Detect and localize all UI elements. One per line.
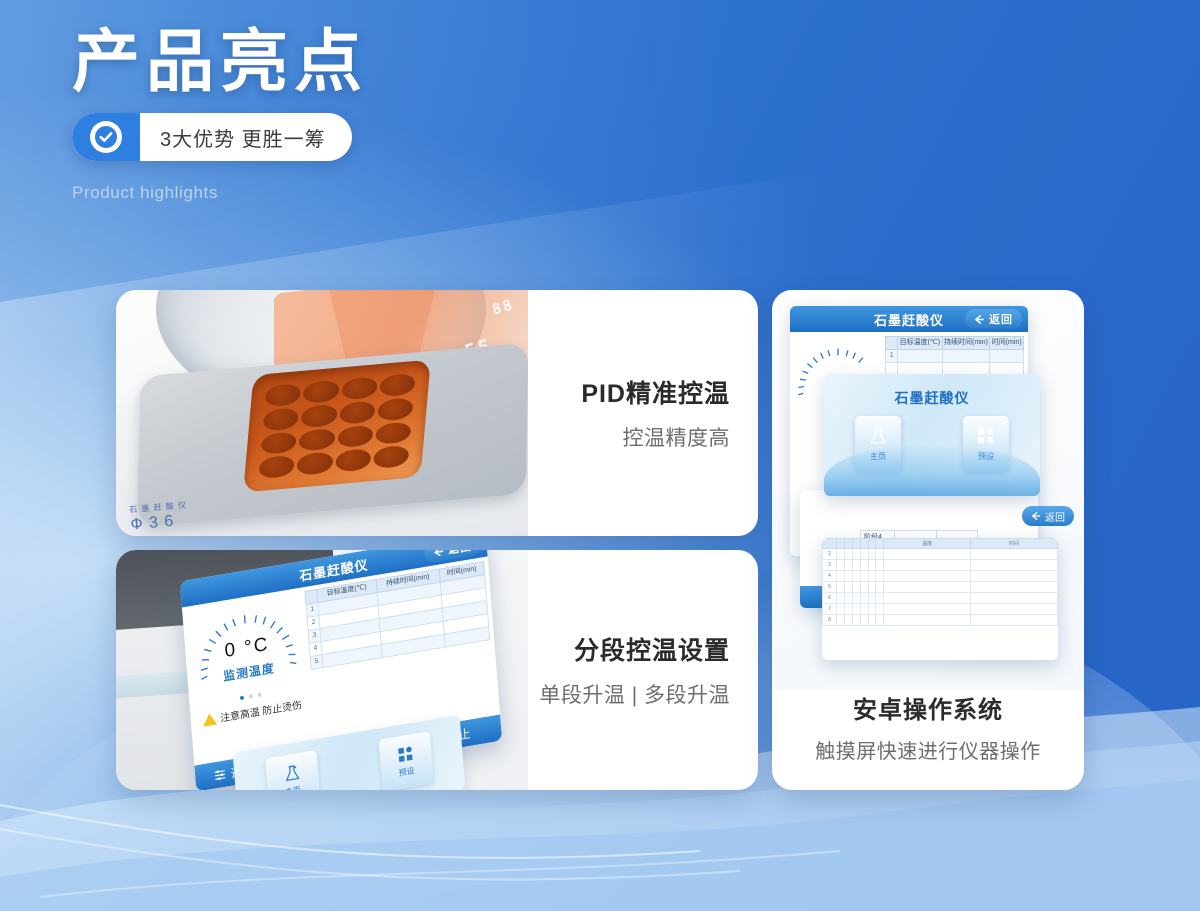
heated-sample-well: [243, 360, 431, 493]
data-grid-table: 温度 时间 2 3 4 5 6 7 8: [822, 538, 1058, 626]
card-segmented-temperature-setting[interactable]: 石墨赶酸仪 返回: [116, 550, 758, 790]
card-2-text: 分段控温设置 单段升温 | 多段升温: [528, 550, 758, 790]
col-target-temp: 目标温度(℃): [898, 337, 942, 350]
main-screen-back-label: 返回: [989, 311, 1013, 327]
home-tile-preset[interactable]: 预设: [378, 731, 433, 790]
back-arrow-icon: [974, 314, 985, 325]
android-home-modal[interactable]: 石墨赶酸仪 主页: [824, 374, 1040, 496]
main-screen-title-bar: 石墨赶酸仪 返回: [790, 306, 1028, 332]
table-row: 8: [823, 615, 1058, 626]
card-1-photo: 88 55 55 石 墨 赶 酸 仪 Ф 3: [116, 290, 528, 536]
table-row: 2: [823, 549, 1058, 560]
card-3-photo: 石墨赶酸仪 返回: [772, 290, 1084, 690]
modal-title: 石墨赶酸仪: [824, 374, 1040, 408]
table-row: 4: [823, 571, 1058, 582]
floating-back-label: 返回: [1045, 509, 1065, 524]
home-tile-preset-label: 预设: [398, 765, 415, 779]
row-index: 8: [823, 615, 837, 626]
instrument-nameplate: 石 墨 赶 酸 仪 Ф 3 6: [129, 500, 189, 535]
heating-block-photo: 88 55 55 石 墨 赶 酸 仪 Ф 3: [116, 290, 528, 536]
table-row: 3: [823, 560, 1058, 571]
col-index: [886, 337, 898, 350]
row-index: 7: [823, 604, 837, 615]
back-arrow-icon: [1031, 511, 1041, 521]
table-row: 7: [823, 604, 1058, 615]
card-3-heading: 安卓操作系统: [853, 690, 1003, 725]
grid-col-index: [823, 539, 837, 549]
card-3-text: 安卓操作系统 触摸屏快速进行仪器操作: [772, 690, 1084, 790]
row-index: 5: [823, 582, 837, 593]
main-screen-back-button[interactable]: 返回: [965, 309, 1022, 329]
sliders-icon: [213, 768, 226, 782]
android-screens-photo: 石墨赶酸仪 返回: [772, 290, 1084, 690]
high-temperature-warning: 注意高温 防止烫伤: [202, 696, 303, 728]
grid-col-time: 时间: [971, 539, 1058, 549]
card-2-subheading: 单段升温 | 多段升温: [539, 679, 730, 709]
card-pid-temperature-control[interactable]: 88 55 55 石 墨 赶 酸 仪 Ф 3: [116, 290, 758, 536]
page-title: 产品亮点: [72, 26, 368, 99]
row-index: 2: [823, 549, 837, 560]
back-button-label: 返回: [448, 550, 473, 558]
main-screen-app-title: 石墨赶酸仪: [874, 310, 944, 329]
main-table-header-row: 目标温度(℃) 持续时间(min) 时间(min): [886, 337, 1024, 350]
touchscreen-photo: 石墨赶酸仪 返回: [116, 550, 528, 790]
floating-back-button[interactable]: 返回: [1022, 506, 1074, 526]
grid-settings-icon: [396, 744, 415, 765]
advantage-badge: 3大优势 更胜一筹: [72, 113, 352, 161]
grid-header-row: 温度 时间: [823, 539, 1058, 549]
row-index: 6: [823, 593, 837, 604]
home-tile-main[interactable]: 主页: [265, 750, 320, 790]
temperature-gauge: 0 °C 监测温度: [193, 599, 302, 700]
table-row: 5: [823, 582, 1058, 593]
card-3-subheading: 触摸屏快速进行仪器操作: [815, 735, 1041, 764]
col-time: 时间(min): [990, 337, 1024, 350]
highlight-cards: 88 55 55 石 墨 赶 酸 仪 Ф 3: [116, 290, 1084, 790]
card-1-heading: PID精准控温: [581, 374, 730, 410]
table-row: 1: [886, 349, 1024, 362]
card-2-heading: 分段控温设置: [574, 631, 730, 667]
flask-icon: [868, 426, 888, 446]
row-index: 1: [886, 349, 898, 362]
cards-right-column: 石墨赶酸仪 返回: [772, 290, 1084, 790]
gauge-page-dots[interactable]: [240, 693, 262, 701]
grid-col-temperature: 温度: [884, 539, 971, 549]
home-tile-main-label: 主页: [285, 784, 302, 790]
row-index: 3: [823, 560, 837, 571]
card-1-text: PID精准控温 控温精度高: [528, 290, 758, 536]
badge-label: 3大优势 更胜一筹: [140, 113, 352, 161]
warning-triangle-icon: [202, 712, 217, 726]
row-index: 5: [310, 654, 323, 669]
row-index: 4: [823, 571, 837, 582]
card-1-subheading: 控温精度高: [623, 422, 731, 452]
cards-left-column: 88 55 55 石 墨 赶 酸 仪 Ф 3: [116, 290, 758, 790]
grid-settings-icon: [976, 426, 996, 446]
badge-icon-area: [72, 113, 140, 161]
check-circle-icon: [90, 121, 122, 153]
page-subtitle: Product highlights: [72, 183, 368, 203]
page-header: 产品亮点 3大优势 更胜一筹 Product highlights: [72, 26, 368, 203]
android-data-grid-screen[interactable]: 温度 时间 2 3 4 5 6 7 8: [822, 538, 1058, 660]
back-arrow-icon: [433, 550, 445, 558]
warning-text: 注意高温 防止烫伤: [220, 696, 303, 725]
card-android-operating-system[interactable]: 石墨赶酸仪 返回: [772, 290, 1084, 790]
card-2-photo: 石墨赶酸仪 返回: [116, 550, 528, 790]
col-duration: 持续时间(min): [942, 337, 990, 350]
table-row: 6: [823, 593, 1058, 604]
flask-icon: [282, 763, 301, 784]
